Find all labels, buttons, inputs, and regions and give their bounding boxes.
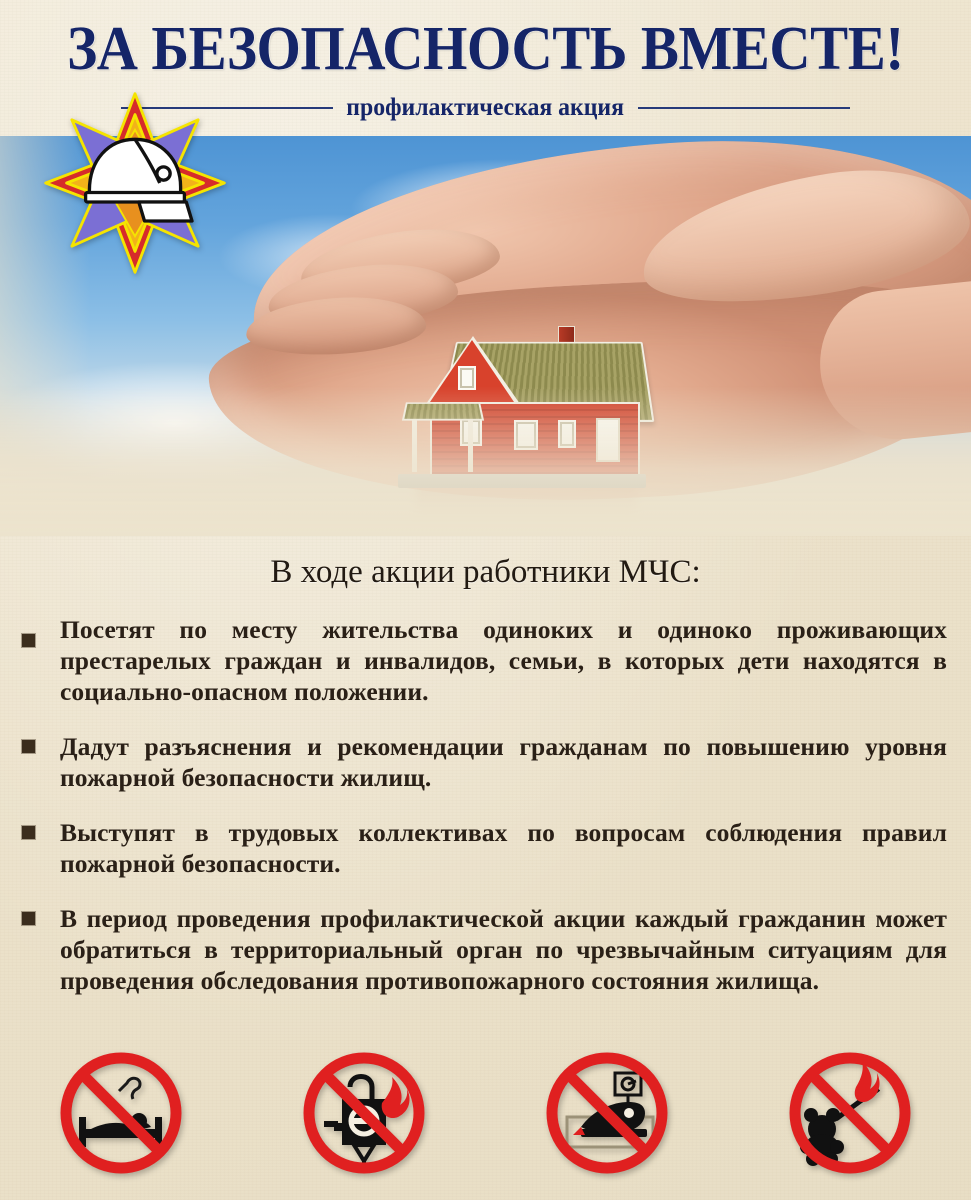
no-smoking-in-bed-icon [41, 1038, 201, 1188]
bullet-text: Посетят по месту жительства одиноких и о… [60, 614, 947, 707]
bullet-text: Выступят в трудовых коллективах по вопро… [60, 817, 947, 879]
section-heading: В ходе акции работники МЧС: [0, 552, 971, 592]
list-item: В период проведения профилактической акц… [0, 903, 971, 996]
page-subtitle: профилактическая акция [341, 94, 630, 122]
photo-fade-bottom [0, 386, 971, 536]
bullet-marker [22, 826, 35, 839]
rule-right [638, 107, 850, 109]
bullet-marker [22, 740, 35, 753]
poster: ЗА БЕЗОПАСНОСТЬ ВМЕСТЕ! профилактическая… [0, 0, 971, 1200]
bullet-marker [22, 634, 35, 647]
no-children-with-matches-icon [770, 1038, 930, 1188]
list-item: Посетят по месту жительства одиноких и о… [0, 614, 971, 707]
list-item: Дадут разъяснения и рекомендации граждан… [0, 731, 971, 793]
bullet-list: Посетят по месту жительства одиноких и о… [0, 614, 971, 1020]
bullet-text: Дадут разъяснения и рекомендации граждан… [60, 731, 947, 793]
no-faulty-electrical-appliance-icon [284, 1038, 444, 1188]
bullet-text: В период проведения профилактической акц… [60, 903, 947, 996]
bullet-marker [22, 912, 35, 925]
list-item: Выступят в трудовых коллективах по вопро… [0, 817, 971, 879]
no-unattended-iron-icon [527, 1038, 687, 1188]
mchs-emblem-icon [40, 88, 230, 278]
page-title: ЗА БЕЗОПАСНОСТЬ ВМЕСТЕ! [39, 14, 932, 84]
prohibition-icons [0, 1038, 971, 1188]
